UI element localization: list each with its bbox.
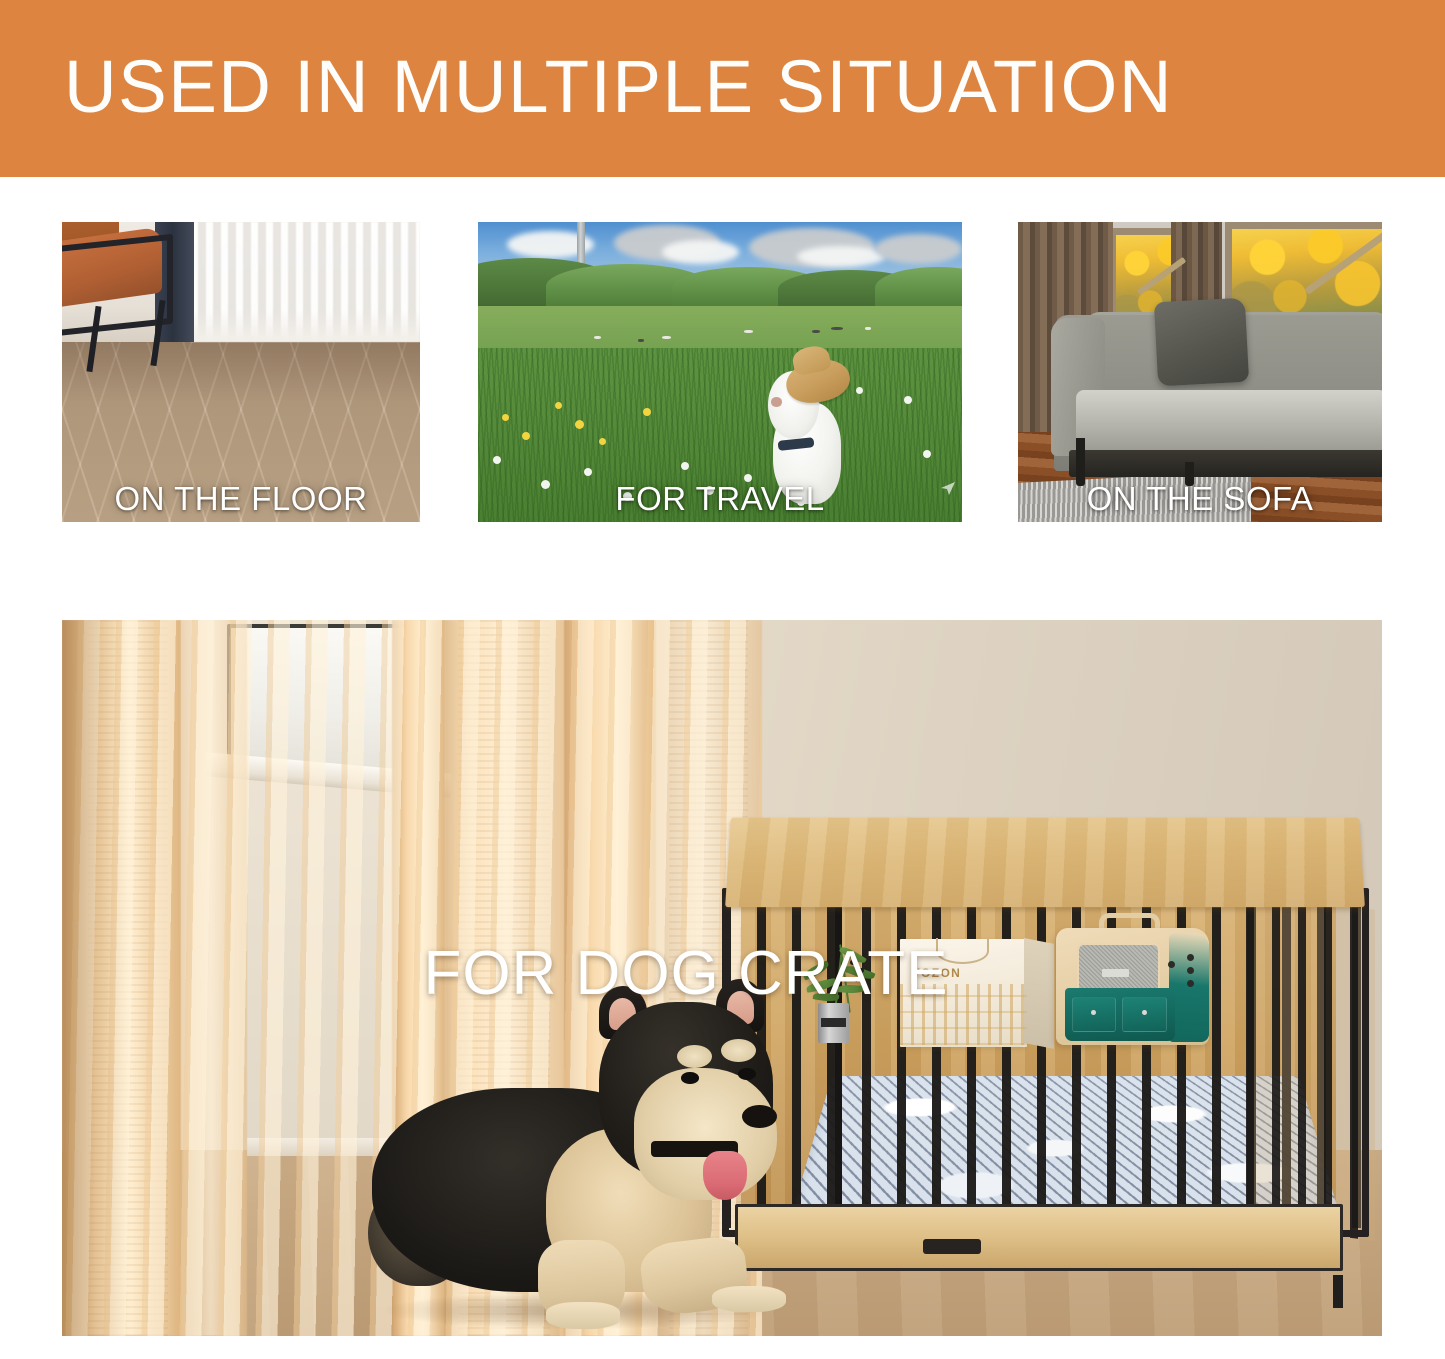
- hero-caption: FOR DOG CRATE: [62, 939, 1346, 1009]
- grazing-sheep: [831, 327, 843, 330]
- sofa-base: [1069, 450, 1382, 477]
- scenario-card-sofa: ON THE SOFA: [1018, 222, 1382, 522]
- crate-drawer-handle[interactable]: [923, 1239, 981, 1254]
- grazing-sheep: [638, 339, 644, 342]
- cloud: [797, 246, 884, 267]
- flower: [522, 432, 530, 440]
- dog-eye: [681, 1072, 698, 1084]
- flower: [575, 420, 584, 429]
- grazing-sheep: [662, 336, 671, 339]
- page-title: USED IN MULTIPLE SITUATION: [64, 46, 1173, 128]
- flower: [643, 408, 651, 416]
- sofa-leg: [1076, 438, 1085, 486]
- dog-crate-furniture: [722, 817, 1369, 1290]
- sheer-curtain: [191, 222, 420, 342]
- crate-wooden-tabletop: [726, 818, 1366, 907]
- flower: [904, 396, 912, 404]
- watermark-icon: [940, 480, 956, 496]
- cloud: [662, 240, 739, 264]
- dog-paw: [546, 1302, 620, 1328]
- scenario-label-travel: FOR TRAVEL: [478, 480, 962, 518]
- header-banner: USED IN MULTIPLE SITUATION: [0, 0, 1445, 177]
- hero-scene-image: VOZON: [62, 620, 1382, 1336]
- grazing-sheep: [744, 330, 753, 333]
- scenario-card-floor: ON THE FLOOR: [62, 222, 420, 522]
- flower: [599, 438, 606, 445]
- flower: [856, 387, 863, 394]
- crate-leg: [1333, 1275, 1343, 1308]
- grazing-sheep: [812, 330, 820, 333]
- crate-base-panel: [735, 1204, 1343, 1270]
- dog-eyebrow-marking: [721, 1039, 756, 1062]
- scenario-label-sofa: ON THE SOFA: [1018, 480, 1382, 518]
- floor-scene-image: [62, 222, 420, 522]
- throw-pillow: [1154, 298, 1249, 387]
- cloud: [875, 234, 962, 264]
- dog-eye: [738, 1068, 755, 1080]
- grazing-sheep: [865, 327, 871, 330]
- dog-snout: [771, 397, 781, 406]
- metal-can-vase: [818, 1003, 848, 1043]
- grazing-sheep: [594, 336, 601, 339]
- malamute-dog: [372, 996, 808, 1325]
- dog-nose: [742, 1105, 777, 1128]
- scenario-card-travel: FOR TRAVEL: [478, 222, 962, 522]
- travel-scene-image: [478, 222, 962, 522]
- tree-branch: [1304, 230, 1382, 294]
- dog-tongue: [703, 1151, 747, 1200]
- flower: [493, 456, 501, 464]
- sofa-seat-cushion: [1076, 390, 1382, 456]
- sofa-scene-image: [1018, 222, 1382, 522]
- product-infographic-page: USED IN MULTIPLE SITUATION ON THE FLOOR: [0, 0, 1445, 1359]
- dog-paw: [712, 1286, 786, 1312]
- scenario-label-floor: ON THE FLOOR: [62, 480, 420, 518]
